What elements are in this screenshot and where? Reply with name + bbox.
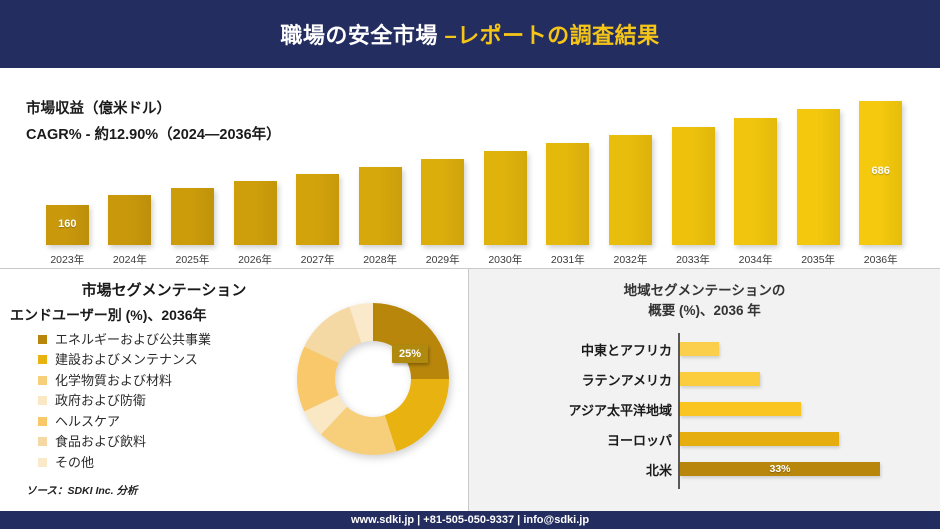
revenue-bar-category-label: 2024年 [96,252,163,267]
segmentation-legend: エネルギーおよび公共事業建設およびメンテナンス化学物質および材料政府および防衛ヘ… [38,329,268,473]
donut-svg [288,289,458,469]
revenue-bar-value: 160 [46,218,89,230]
revenue-bar-category-label: 2025年 [159,252,226,267]
segmentation-legend-item: ヘルスケア [38,411,268,432]
revenue-bar-category-label: 2027年 [284,252,351,267]
revenue-bar-column: 1602023年 [46,205,89,245]
legend-label: 食品および飲料 [55,435,146,448]
footer-contact: www.sdki.jp | +81-505-050-9337 | info@sd… [351,514,589,526]
region-bar [680,402,801,416]
segmentation-panel: 市場セグメンテーション エンドユーザー別 (%)、2036年 エネルギーおよび公… [0,268,468,512]
source-note: ソース：SDKI Inc. 分析 [26,483,137,498]
region-bar-row: 中東とアフリカ [469,335,940,363]
segmentation-legend-item: エネルギーおよび公共事業 [38,329,268,350]
revenue-bar: 2032年 [609,135,652,245]
revenue-bar: 2028年 [359,167,402,245]
revenue-bar-category-label: 2023年 [34,252,101,267]
revenue-bar: 1602023年 [46,205,89,245]
revenue-bar-category-label: 2033年 [660,252,727,267]
region-title-line1: 地域セグメンテーションの [624,283,786,298]
segmentation-subtitle: エンドユーザー別 (%)、2036年 [10,305,207,325]
legend-color-swatch [38,376,47,385]
revenue-chart-panel: 市場収益（億米ドル） CAGR% - 約12.90%（2024―2036年） 1… [0,68,940,268]
legend-label: エネルギーおよび公共事業 [55,333,211,346]
donut-slice [385,379,449,451]
region-bar-wrapper: 33% [680,462,880,476]
region-bar [680,372,760,386]
legend-color-swatch [38,458,47,467]
donut-slice [373,303,449,379]
revenue-bar: 2034年 [734,118,777,245]
region-category-label: 中東とアフリカ [472,340,672,359]
legend-label: 化学物質および材料 [55,374,172,387]
region-bar-row: ヨーロッパ [469,425,940,453]
region-bar-value: 33% [680,462,880,476]
revenue-bar-column: 2025年 [171,188,214,245]
legend-color-swatch [38,355,47,364]
region-title-line2: 概要 (%)、2036 年 [648,303,761,318]
page-header: 職場の安全市場 –レポートの調査結果 [0,0,940,68]
revenue-bar: 2025年 [171,188,214,245]
revenue-bar-category-label: 2032年 [597,252,664,267]
segmentation-legend-item: その他 [38,452,268,473]
revenue-bar: 2030年 [484,151,527,245]
region-bar: 33% [680,462,880,476]
revenue-bar-category-label: 2035年 [785,252,852,267]
bottom-section: 市場セグメンテーション エンドユーザー別 (%)、2036年 エネルギーおよび公… [0,268,940,511]
revenue-bar: 2029年 [421,159,464,245]
donut-slice-callout: 25% [392,345,428,363]
revenue-bar-column: 2034年 [734,118,777,245]
legend-color-swatch [38,335,47,344]
revenue-bar: 2024年 [108,195,151,245]
legend-color-swatch [38,417,47,426]
revenue-bar-column: 2032年 [609,135,652,245]
region-category-label: アジア太平洋地域 [472,400,672,419]
legend-label: 政府および防衛 [55,394,146,407]
revenue-bar: 2033年 [672,127,715,245]
region-bar-chart: 中東とアフリカラテンアメリカアジア太平洋地域ヨーロッパ北米33% [469,331,940,496]
segmentation-legend-item: 食品および飲料 [38,432,268,453]
legend-label: 建設およびメンテナンス [55,353,198,366]
revenue-bar-column: 2026年 [234,181,277,245]
revenue-bar-column: 2028年 [359,167,402,245]
revenue-bar-column: 2033年 [672,127,715,245]
revenue-bar: 2035年 [797,109,840,245]
revenue-bar-column: 6862036年 [859,101,902,245]
revenue-bar-column: 2027年 [296,174,339,245]
region-bar-row: ラテンアメリカ [469,365,940,393]
legend-color-swatch [38,396,47,405]
region-bar-row: 北米33% [469,455,940,483]
revenue-bar-category-label: 2036年 [847,252,914,267]
page-title-accent: –レポートの調査結果 [444,23,659,48]
region-bar-wrapper [680,372,760,386]
revenue-bar: 2026年 [234,181,277,245]
region-bar [680,432,839,446]
revenue-bar-chart: 1602023年2024年2025年2026年2027年2028年2029年20… [0,68,940,268]
revenue-bar-category-label: 2034年 [722,252,789,267]
region-bar-wrapper [680,402,801,416]
region-panel: 地域セグメンテーションの 概要 (%)、2036 年 中東とアフリカラテンアメリ… [468,268,940,511]
region-category-label: ラテンアメリカ [472,370,672,389]
legend-color-swatch [38,437,47,446]
segmentation-donut-chart: 25% [288,289,458,469]
revenue-bar-column: 2035年 [797,109,840,245]
revenue-bar-category-label: 2030年 [472,252,539,267]
revenue-bar: 2031年 [546,143,589,245]
segmentation-legend-item: 建設およびメンテナンス [38,350,268,371]
revenue-bar-category-label: 2029年 [409,252,476,267]
region-bar-row: アジア太平洋地域 [469,395,940,423]
region-category-label: 北米 [472,460,672,479]
region-title: 地域セグメンテーションの 概要 (%)、2036 年 [469,281,940,322]
revenue-bar-value: 686 [859,165,902,177]
revenue-bar-column: 2024年 [108,195,151,245]
region-bar [680,342,719,356]
page-title-main: 職場の安全市場 [280,23,444,48]
segmentation-legend-item: 化学物質および材料 [38,370,268,391]
revenue-bar-category-label: 2028年 [347,252,414,267]
region-bar-wrapper [680,342,719,356]
page-footer: www.sdki.jp | +81-505-050-9337 | info@sd… [0,511,940,529]
legend-label: その他 [55,456,94,469]
revenue-bar-category-label: 2031年 [534,252,601,267]
revenue-bar: 6862036年 [859,101,902,245]
revenue-bar-category-label: 2026年 [222,252,289,267]
region-category-label: ヨーロッパ [472,430,672,449]
revenue-bar-column: 2029年 [421,159,464,245]
page-title: 職場の安全市場 –レポートの調査結果 [280,18,659,50]
revenue-bar-column: 2031年 [546,143,589,245]
legend-label: ヘルスケア [55,415,120,428]
revenue-bar-column: 2030年 [484,151,527,245]
segmentation-legend-item: 政府および防衛 [38,391,268,412]
region-bar-wrapper [680,432,839,446]
revenue-bar: 2027年 [296,174,339,245]
